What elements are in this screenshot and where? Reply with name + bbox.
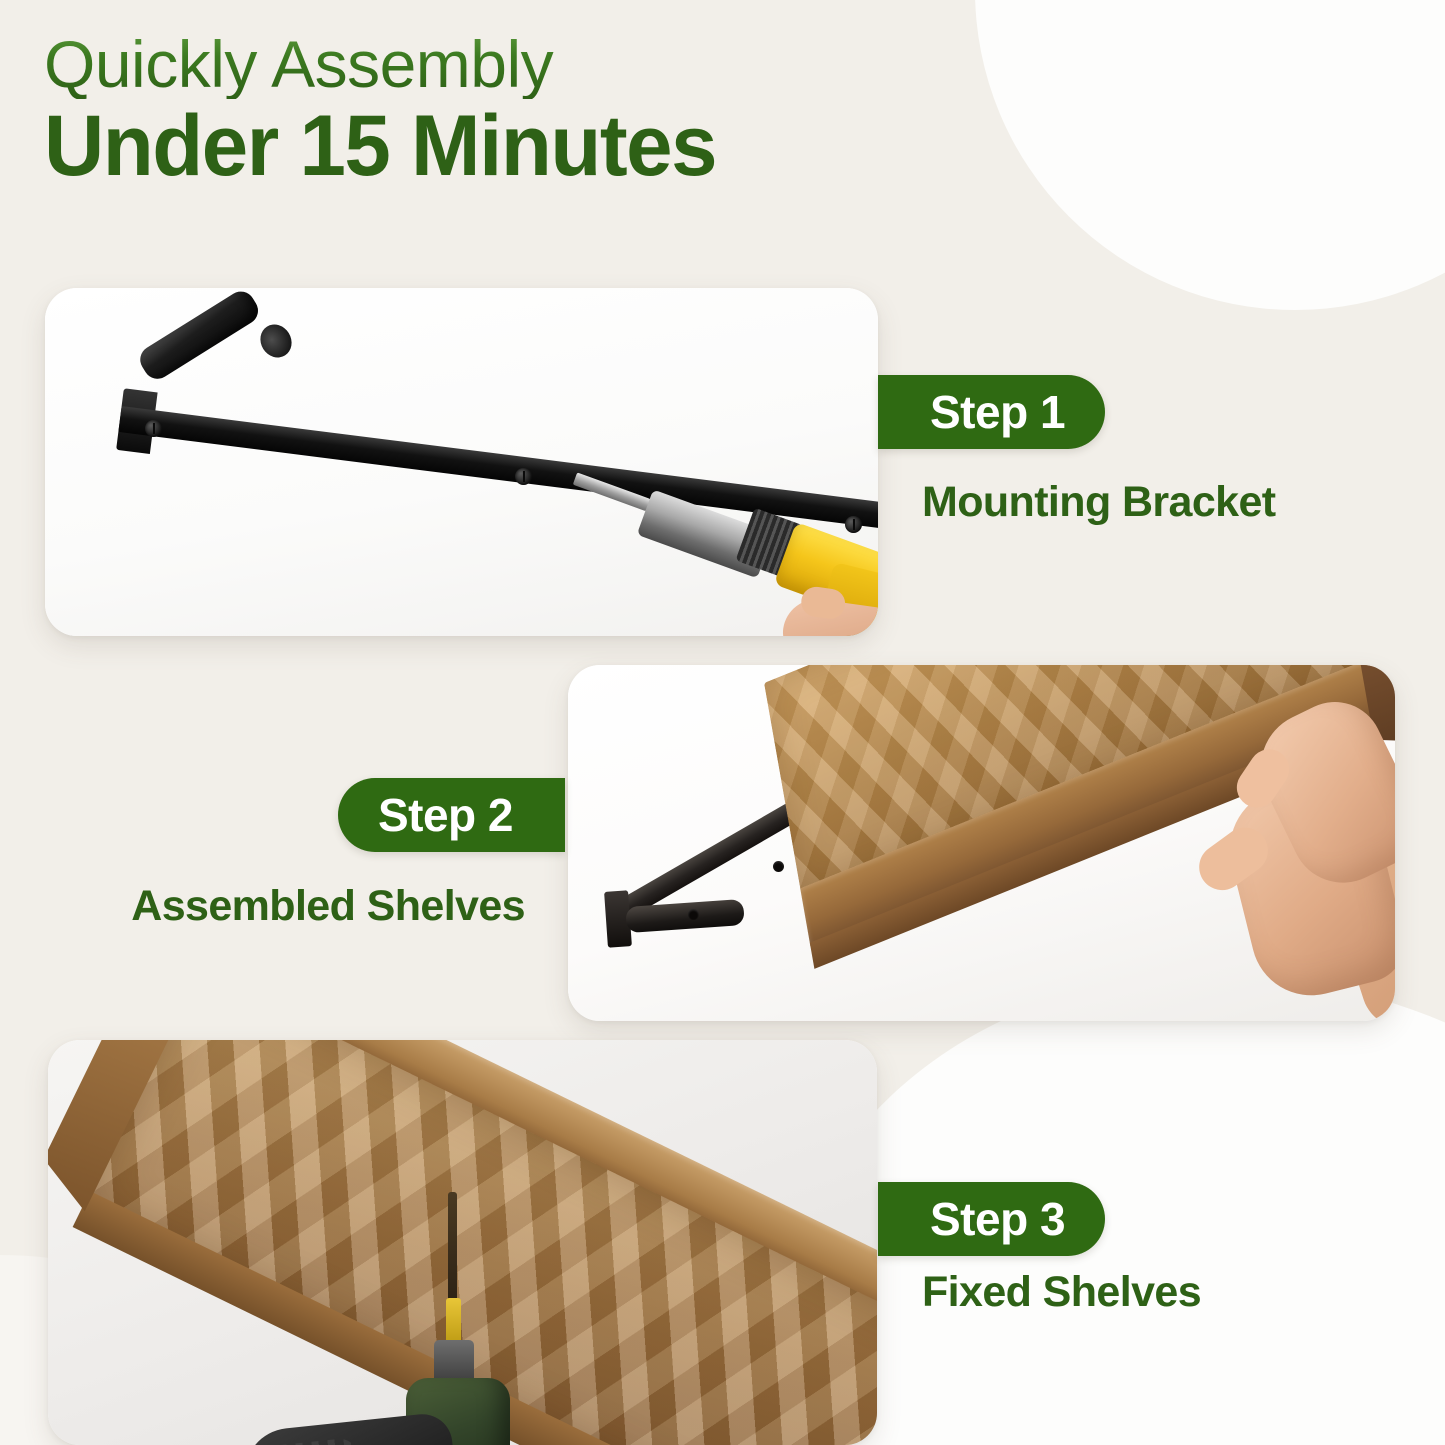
screw-head: [845, 516, 862, 533]
bracket-hole: [773, 861, 784, 872]
bracket-hole: [688, 909, 699, 920]
step-1-photo: [45, 288, 878, 636]
step-2-photo-card: [568, 665, 1395, 1021]
step-2-badge-label: Step 2: [378, 788, 513, 842]
step-2-caption: Assembled Shelves: [131, 882, 525, 931]
headline-block: Quickly Assembly Under 15 Minutes: [44, 30, 737, 192]
background-blob-top-right: [975, 0, 1445, 310]
step-1-caption: Mounting Bracket: [922, 478, 1276, 527]
drill-bit: [448, 1192, 457, 1304]
step-1-badge: Step 1: [878, 375, 1105, 449]
step-3-photo-card: [48, 1040, 877, 1445]
step-2-photo: [568, 665, 1395, 1021]
step-3-badge-label: Step 3: [930, 1192, 1065, 1246]
step-1-badge-label: Step 1: [930, 385, 1065, 439]
step-3-badge: Step 3: [878, 1182, 1105, 1256]
screw-head: [145, 420, 162, 437]
headline-line-2: Under 15 Minutes: [44, 101, 716, 192]
step-3-photo: [48, 1040, 877, 1445]
background-blob-top-right-2: [1075, 0, 1445, 180]
headline-line-1: Quickly Assembly: [44, 30, 737, 99]
step-3-caption: Fixed Shelves: [922, 1268, 1201, 1317]
screw-head: [515, 468, 532, 485]
infographic-canvas: Quickly Assembly Under 15 Minutes Step 1…: [0, 0, 1445, 1445]
step-1-photo-card: [45, 288, 878, 636]
step-2-badge: Step 2: [338, 778, 565, 852]
